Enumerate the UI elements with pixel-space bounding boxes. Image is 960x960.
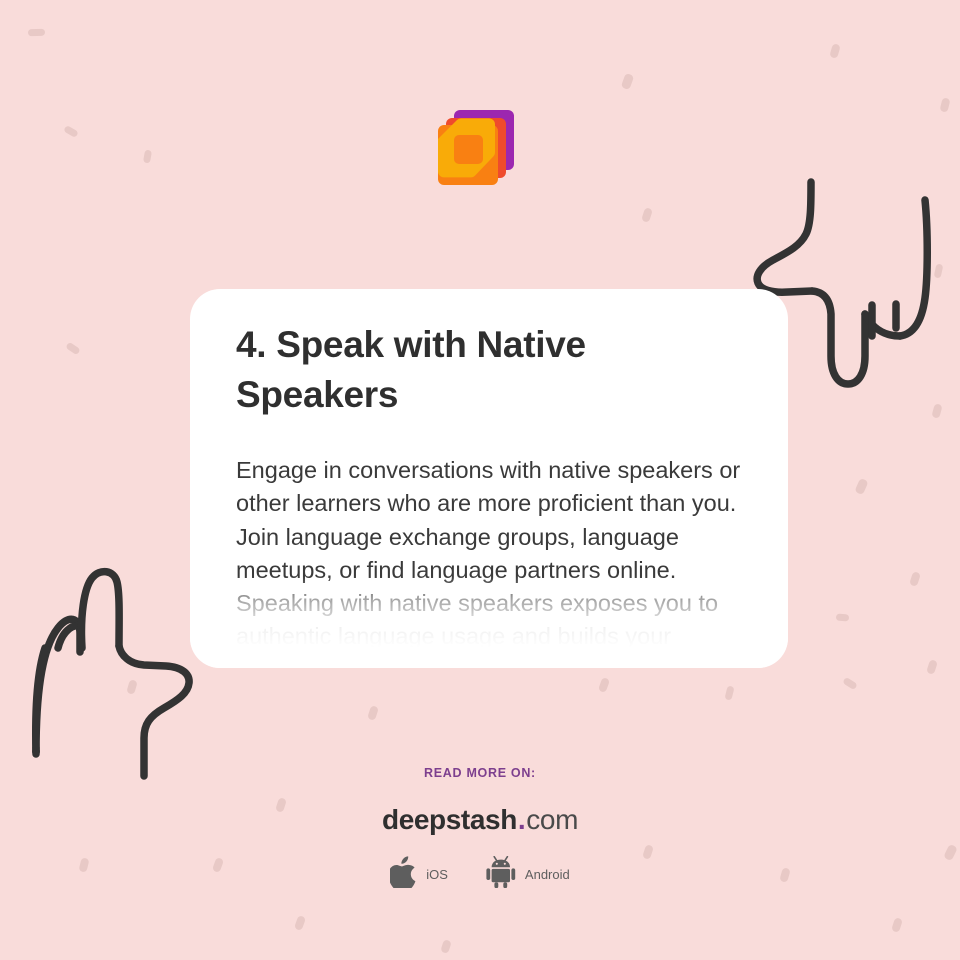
poster-canvas: 4. Speak with Native Speakers Engage in … [0,0,960,960]
confetti-fleck [939,97,950,113]
card-title: 4. Speak with Native Speakers [236,320,748,420]
confetti-fleck [926,659,938,675]
confetti-fleck [440,939,452,954]
footer: READ MORE ON: deepstash.com iOS [0,766,960,893]
confetti-fleck [621,73,635,90]
store-badges: iOS [0,856,960,893]
confetti-fleck [641,207,653,223]
ios-store-label: iOS [426,867,448,882]
confetti-fleck [724,685,734,700]
brand-wordmark[interactable]: deepstash.com [0,804,960,836]
idea-card[interactable]: 4. Speak with Native Speakers Engage in … [190,289,788,668]
read-more-label: READ MORE ON: [0,766,960,780]
confetti-fleck [934,263,944,278]
deepstash-logo [424,104,524,202]
confetti-fleck [126,679,138,695]
confetti-fleck [28,29,45,37]
brand-dot: . [517,804,526,835]
ios-store-badge[interactable]: iOS [390,856,448,893]
confetti-fleck [294,915,306,931]
android-icon [486,856,516,893]
confetti-fleck [854,478,868,495]
confetti-fleck [829,43,841,59]
confetti-fleck [143,149,152,163]
confetti-fleck [931,403,942,419]
apple-icon [390,856,417,893]
confetti-fleck [836,614,849,622]
confetti-fleck [598,677,610,693]
card-content: 4. Speak with Native Speakers Engage in … [190,289,788,654]
brand-name: deepstash [382,804,517,835]
confetti-fleck [891,917,903,933]
confetti-fleck [909,571,921,587]
android-store-label: Android [525,867,570,882]
pointing-hand-left-icon [18,552,218,797]
android-store-badge[interactable]: Android [486,856,570,893]
card-body-text: Engage in conversations with native spea… [236,454,748,654]
confetti-fleck [367,705,379,721]
confetti-fleck [65,342,81,356]
brand-tld: com [526,804,578,835]
confetti-fleck [63,125,79,138]
confetti-fleck [842,677,858,690]
